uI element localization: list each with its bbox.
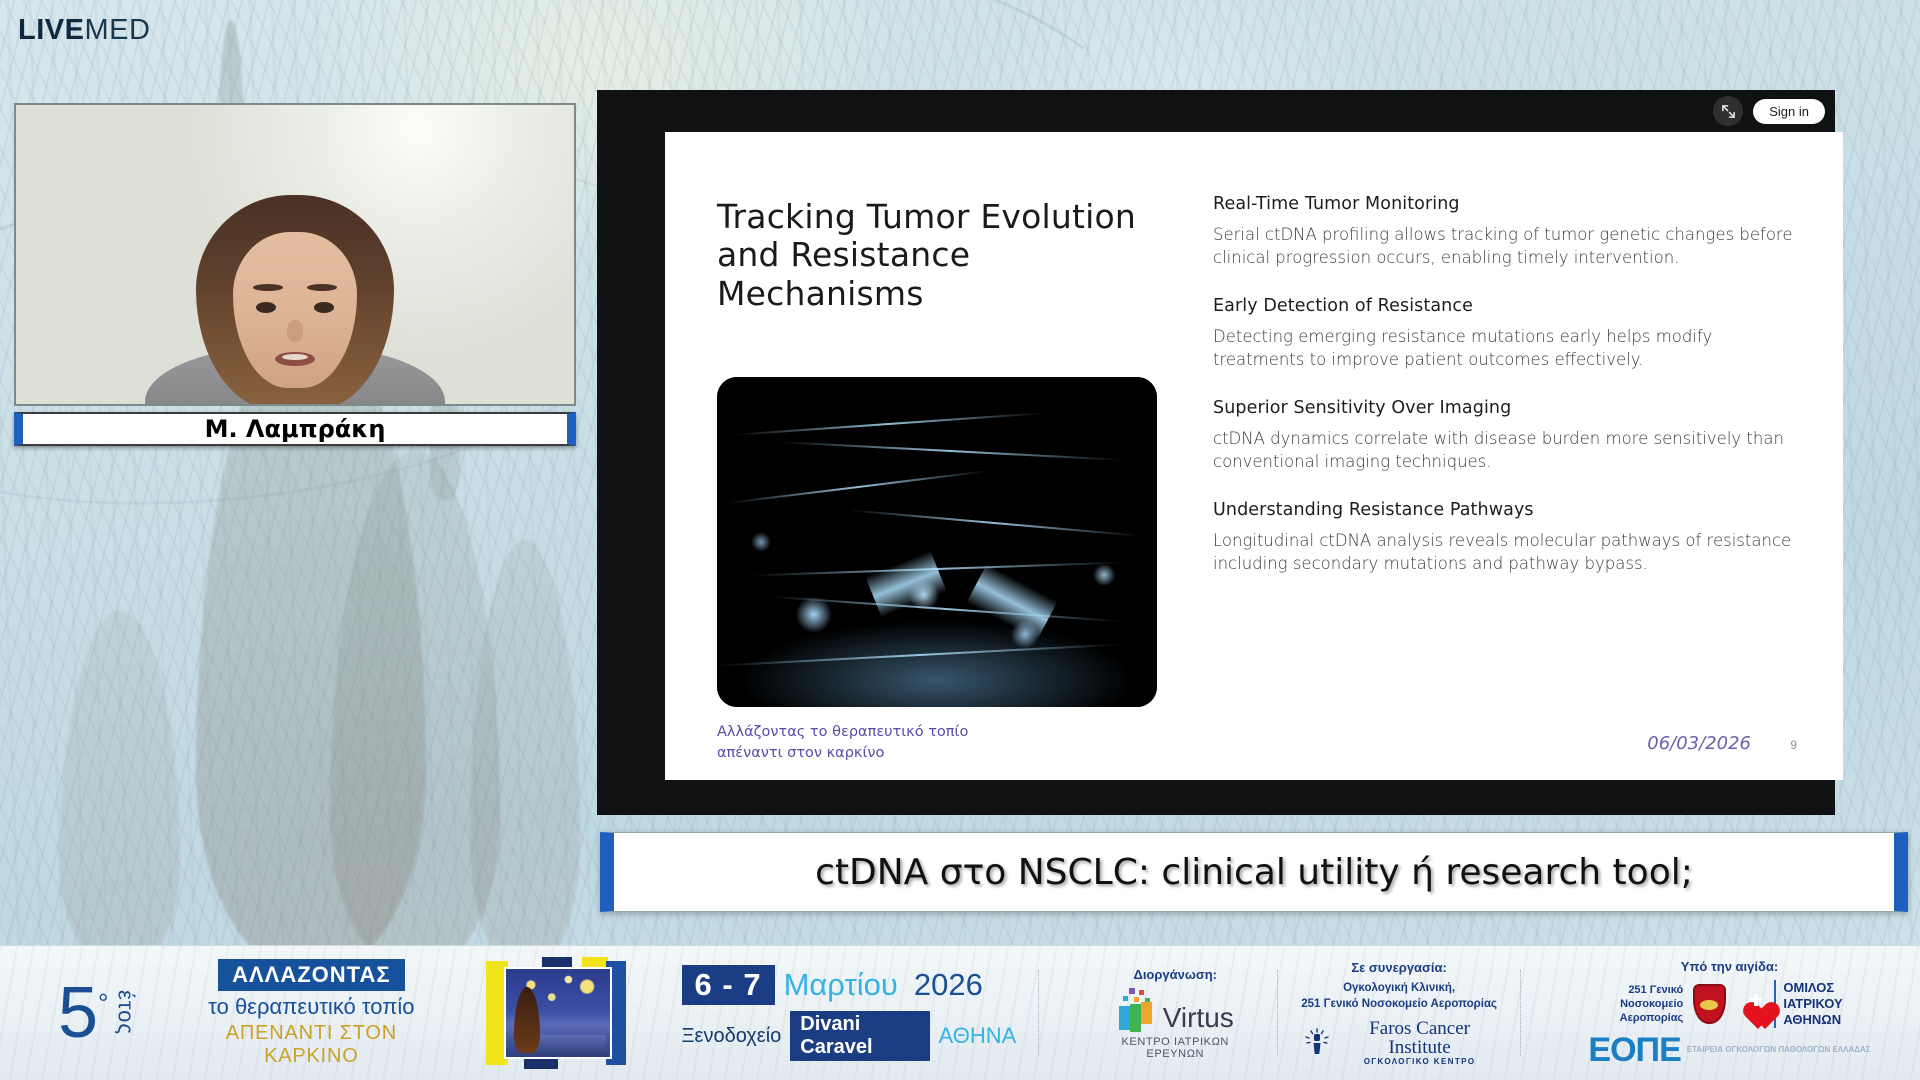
livemed-logo: LIVEMED xyxy=(18,14,150,47)
session-title-text: ctDNA στο NSCLC: clinical utility ή rese… xyxy=(815,852,1693,893)
edition-number: 5° xyxy=(58,981,108,1046)
edition-badge: 5° έτος xyxy=(58,981,138,1046)
eye-right xyxy=(314,302,334,313)
faros-lighthouse-icon xyxy=(1300,1025,1334,1059)
virtus-wordmark: Virtus xyxy=(1163,1004,1234,1032)
venue-name: Divani Caravel xyxy=(790,1011,929,1061)
cooperation-label: Σε συνεργασία: xyxy=(1300,960,1498,975)
cooperation-clinic: Ογκολογική Κλινική, 251 Γενικό Νοσοκομεί… xyxy=(1300,981,1498,1012)
cooperation-block: Σε συνεργασία: Ογκολογική Κλινική, 251 Γ… xyxy=(1300,960,1498,1065)
neuron-network-image xyxy=(717,377,1157,707)
section-heading: Understanding Resistance Pathways xyxy=(1213,500,1793,520)
degree-symbol: ° xyxy=(98,988,108,1018)
speaker-name: Μ. Λαμπράκη xyxy=(205,415,386,443)
slide-date: 06/03/2026 xyxy=(1647,733,1751,754)
edition-number-text: 5 xyxy=(58,973,98,1053)
faros-text: Faros Cancer Institute ΟΓΚΟΛΟΓΙΚΟ ΚΕΝΤΡΟ xyxy=(1341,1019,1498,1066)
eope-tagline: ΕΤΑΙΡΕΙΑ ΟΓΚΟΛΟΓΩΝ ΠΑΘΟΛΟΓΩΝ ΕΛΛΑΔΑΣ xyxy=(1687,1045,1871,1055)
cypress-decor xyxy=(60,610,180,970)
starry-night-thumbnail xyxy=(486,957,625,1069)
event-banner: 5° έτος ΑΛΛΑΖΟΝΤΑΣ το θεραπευτικό τοπίο … xyxy=(0,945,1920,1080)
painting-canvas xyxy=(504,967,612,1059)
theme-line-1: ΑΛΛΑΖΟΝΤΑΣ xyxy=(218,959,404,991)
neuron-glow xyxy=(717,377,1157,707)
speaker-face xyxy=(233,232,357,388)
virtus-logo: Virtus xyxy=(1095,988,1255,1032)
event-days: 6 - 7 xyxy=(682,965,775,1005)
faros-name: Faros Cancer Institute xyxy=(1341,1019,1498,1057)
eope-logo: ΕΟΠΕ ΕΤΑΙΡΕΙΑ ΟΓΚΟΛΟΓΩΝ ΠΑΘΟΛΟΓΩΝ ΕΛΛΑΔΑ… xyxy=(1569,1033,1890,1067)
faros-logo: Faros Cancer Institute ΟΓΚΟΛΟΓΙΚΟ ΚΕΝΤΡΟ xyxy=(1300,1019,1498,1066)
collapse-arrows-icon[interactable] xyxy=(1713,96,1743,126)
omilos-text: ΟΜΙΛΟΣ ΙΑΤΡΙΚΟΥ ΑΘΗΝΩΝ xyxy=(1774,980,1890,1029)
edition-word: έτος xyxy=(112,990,138,1035)
brow-right xyxy=(307,284,337,291)
slide-page-number: 9 xyxy=(1790,738,1797,752)
divider xyxy=(1520,970,1521,1056)
slide-player[interactable]: Sign in Tracking Tumor Evolution and Res… xyxy=(597,90,1835,815)
event-theme: ΑΛΛΑΖΟΝΤΑΣ το θεραπευτικό τοπίο ΑΠΕΝΑΝΤΙ… xyxy=(182,959,440,1068)
logo-med: MED xyxy=(84,14,150,46)
aegis-251-text: 251 Γενικό Νοσοκομείο Αεροπορίας xyxy=(1569,983,1683,1026)
presentation-slide[interactable]: Tracking Tumor Evolution and Resistance … xyxy=(665,132,1843,780)
cypress-decor xyxy=(470,540,580,970)
footer-line-2: απέναντι στον καρκίνο xyxy=(717,743,968,764)
logo-live: LIVE xyxy=(18,14,84,46)
footer-line-1: Αλλάζοντας το θεραπευτικό τοπίο xyxy=(717,722,968,743)
speaker-panel: Μ. Λαμπράκη xyxy=(14,103,576,446)
virtus-tagline: ΚΕΝΤΡΟ ΙΑΤΡΙΚΩΝ ΕΡΕΥΝΩΝ xyxy=(1095,1036,1255,1060)
aegis-block: Υπό την αιγίδα: 251 Γενικό Νοσοκομείο Αε… xyxy=(1569,959,1890,1068)
heart-cross-icon xyxy=(1736,989,1768,1019)
virtus-mark-icon xyxy=(1117,988,1159,1032)
organizer-label: Διοργάνωση: xyxy=(1095,967,1255,982)
eope-wordmark: ΕΟΠΕ xyxy=(1588,1033,1680,1067)
aegis-logos-row: 251 Γενικό Νοσοκομείο Αεροπορίας ΟΜΙΛΟΣ … xyxy=(1569,980,1890,1029)
faros-sub: ΟΓΚΟΛΟΓΙΚΟ ΚΕΝΤΡΟ xyxy=(1341,1057,1498,1066)
slide-section: Superior Sensitivity Over Imaging ctDNA … xyxy=(1213,398,1793,474)
painting-town xyxy=(534,1035,606,1055)
eye-left xyxy=(256,302,276,313)
section-heading: Early Detection of Resistance xyxy=(1213,296,1793,316)
omilos-line-2: ΑΘΗΝΩΝ xyxy=(1783,1012,1890,1028)
coop-line-1: Ογκολογική Κλινική, xyxy=(1300,981,1498,997)
player-controls: Sign in xyxy=(1713,96,1825,126)
brow-left xyxy=(253,284,283,291)
event-date-block: 6 - 7 Μαρτίου 2026 Ξενοδοχείο Divani Car… xyxy=(682,965,1017,1061)
painting-cypress xyxy=(514,987,540,1053)
organizer-block: Διοργάνωση: Virtus ΚΕΝΤΡΟ ΙΑΤΡΙΚΩΝ ΕΡΕΥΝ… xyxy=(1095,967,1255,1060)
slide-section: Real-Time Tumor Monitoring Serial ctDNA … xyxy=(1213,194,1793,270)
coop-line-2: 251 Γενικό Νοσοκομείο Αεροπορίας xyxy=(1300,997,1498,1013)
slide-title: Tracking Tumor Evolution and Resistance … xyxy=(717,198,1157,313)
section-heading: Superior Sensitivity Over Imaging xyxy=(1213,398,1793,418)
section-heading: Real-Time Tumor Monitoring xyxy=(1213,194,1793,214)
slide-section: Early Detection of Resistance Detecting … xyxy=(1213,296,1793,372)
venue-label: Ξενοδοχείο xyxy=(682,1025,782,1048)
omilos-logo: ΟΜΙΛΟΣ ΙΑΤΡΙΚΟΥ ΑΘΗΝΩΝ xyxy=(1736,980,1890,1029)
event-month: Μαρτίου xyxy=(784,967,898,1003)
aegis-251-line-1: 251 Γενικό Νοσοκομείο xyxy=(1569,983,1683,1012)
omilos-line-1: ΟΜΙΛΟΣ ΙΑΤΡΙΚΟΥ xyxy=(1783,980,1890,1013)
section-body: Longitudinal ctDNA analysis reveals mole… xyxy=(1213,529,1793,576)
event-year: 2026 xyxy=(914,967,983,1003)
aegis-label: Υπό την αιγίδα: xyxy=(1569,959,1890,974)
slide-content: Tracking Tumor Evolution and Resistance … xyxy=(665,132,1843,780)
air-force-shield-icon xyxy=(1693,984,1725,1024)
slide-footer-greek: Αλλάζοντας το θεραπευτικό τοπίο απέναντι… xyxy=(717,722,968,764)
section-body: Serial ctDNA profiling allows tracking o… xyxy=(1213,223,1793,270)
divider xyxy=(1277,970,1278,1056)
mouth xyxy=(275,352,315,366)
session-title-bar: ctDNA στο NSCLC: clinical utility ή rese… xyxy=(600,832,1908,912)
section-body: Detecting emerging resistance mutations … xyxy=(1213,325,1793,372)
date-row: 6 - 7 Μαρτίου 2026 xyxy=(682,965,1017,1005)
theme-line-2: το θεραπευτικό τοπίο xyxy=(182,994,440,1020)
venue-row: Ξενοδοχείο Divani Caravel ΑΘΗΝΑ xyxy=(682,1011,1017,1061)
speaker-nameplate: Μ. Λαμπράκη xyxy=(14,412,576,446)
section-body: ctDNA dynamics correlate with disease bu… xyxy=(1213,427,1793,474)
webcam-video[interactable] xyxy=(14,103,576,406)
theme-line-3: ΑΠΕΝΑΝΤΙ ΣΤΟΝ ΚΑΡΚΙΝΟ xyxy=(182,1022,440,1068)
slide-section: Understanding Resistance Pathways Longit… xyxy=(1213,500,1793,576)
slide-sections: Real-Time Tumor Monitoring Serial ctDNA … xyxy=(1213,194,1793,601)
sign-in-button[interactable]: Sign in xyxy=(1753,99,1825,124)
divider xyxy=(1038,970,1039,1056)
venue-city: ΑΘΗΝΑ xyxy=(939,1023,1017,1049)
nose xyxy=(287,320,303,342)
aegis-251-line-2: Αεροπορίας xyxy=(1569,1011,1683,1025)
